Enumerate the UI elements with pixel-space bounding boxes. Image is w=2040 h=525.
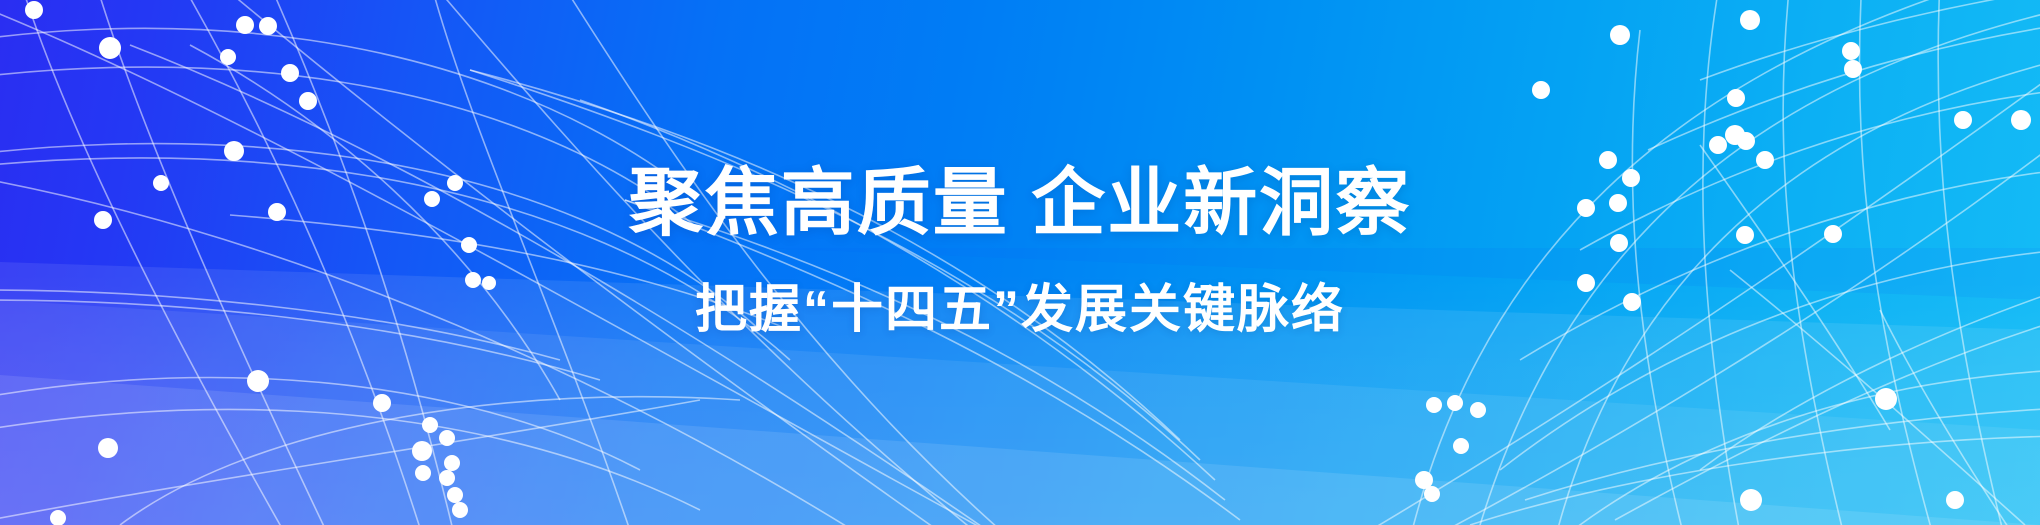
- right-globe-arcs: [1320, 0, 2040, 525]
- network-globe-right: [0, 0, 2040, 525]
- hero-banner: 聚焦高质量 企业新洞察 把握“十四五”发展关键脉络: [0, 0, 2040, 525]
